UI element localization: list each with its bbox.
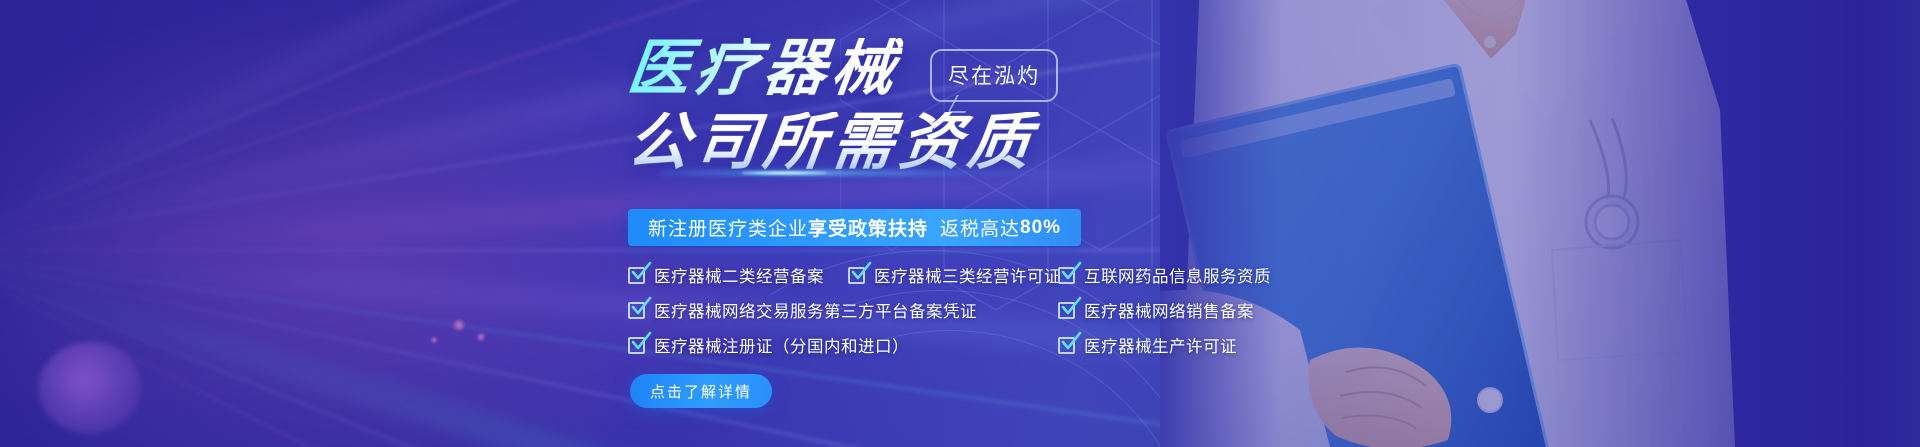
checklist-row: 医疗器械网络销售备案: [1058, 297, 1271, 323]
check-mark-icon: [1058, 267, 1075, 284]
headline-line1: 医疗器械: [624, 38, 904, 100]
checklist-item-label: 医疗器械注册证（分国内和进口）: [654, 333, 909, 357]
checklist-row: 医疗器械网络交易服务第三方平台备案凭证: [628, 297, 1098, 323]
headline-block: 医疗器械 尽在泓灼 公司所需资质: [628, 38, 1058, 174]
subtitle-bold-2: 80%: [1020, 217, 1061, 239]
checklist-row: 医疗器械生产许可证: [1058, 332, 1271, 358]
checklist-item-label: 医疗器械网络交易服务第三方平台备案凭证: [654, 298, 977, 322]
checklist-item[interactable]: 医疗器械网络交易服务第三方平台备案凭证: [628, 298, 977, 322]
photo-gradient-fade: [1160, 0, 1920, 447]
checklist-item-label: 医疗器械三类经营许可证: [874, 263, 1061, 287]
subtitle-bar: 新注册医疗类企业享受政策扶持返税高达80%: [628, 209, 1081, 246]
check-mark-icon: [1058, 302, 1075, 319]
check-mark-icon: [628, 302, 645, 319]
banner-content: 医疗器械 尽在泓灼 公司所需资质 新注册医疗类企业享受政策扶持返税高达80% 医…: [0, 0, 1100, 447]
checklist-item[interactable]: 医疗器械网络销售备案: [1058, 298, 1254, 322]
checklist-item-label: 医疗器械网络销售备案: [1084, 298, 1254, 322]
checklist-item[interactable]: 医疗器械三类经营许可证: [848, 263, 1061, 287]
checklist-row: 医疗器械注册证（分国内和进口）: [628, 332, 1098, 358]
checklist-left-column: 医疗器械二类经营备案 医疗器械三类经营许可证 医疗器械网络交易服务第三方平台备案…: [628, 262, 1098, 367]
checklist-item[interactable]: 医疗器械注册证（分国内和进口）: [628, 333, 909, 357]
brand-badge-bubble: 尽在泓灼: [930, 49, 1058, 102]
check-mark-icon: [848, 267, 865, 284]
check-mark-icon: [1058, 337, 1075, 354]
learn-more-button[interactable]: 点击了解详情: [630, 374, 772, 408]
subtitle-bold-1: 享受政策扶持: [808, 214, 928, 241]
subtitle-mid: 返税高达: [940, 214, 1020, 241]
checklist-row: 互联网药品信息服务资质: [1058, 262, 1271, 288]
checklist-item[interactable]: 互联网药品信息服务资质: [1058, 263, 1271, 287]
headline-line2: 公司所需资质: [624, 112, 1062, 174]
checklist-item-label: 医疗器械二类经营备案: [654, 263, 824, 287]
checklist-item-label: 互联网药品信息服务资质: [1084, 263, 1271, 287]
check-mark-icon: [628, 267, 645, 284]
check-mark-icon: [628, 337, 645, 354]
cyan-light-flare: [660, 168, 1080, 178]
doctor-photo: [1160, 0, 1920, 447]
checklist-right-column: 互联网药品信息服务资质 医疗器械网络销售备案 医疗器械生产许可证: [1058, 262, 1271, 367]
cyan-light-flare-core: [742, 171, 826, 175]
checklist-item[interactable]: 医疗器械生产许可证: [1058, 333, 1237, 357]
headline-line1-row: 医疗器械 尽在泓灼: [628, 38, 1058, 100]
checklist-row: 医疗器械二类经营备案 医疗器械三类经营许可证: [628, 262, 1098, 288]
checklist-item-label: 医疗器械生产许可证: [1084, 333, 1237, 357]
medical-device-qualification-banner: 医疗器械 尽在泓灼 公司所需资质 新注册医疗类企业享受政策扶持返税高达80% 医…: [0, 0, 1920, 447]
subtitle-prefix: 新注册医疗类企业: [648, 214, 808, 241]
checklist-item[interactable]: 医疗器械二类经营备案: [628, 263, 824, 287]
